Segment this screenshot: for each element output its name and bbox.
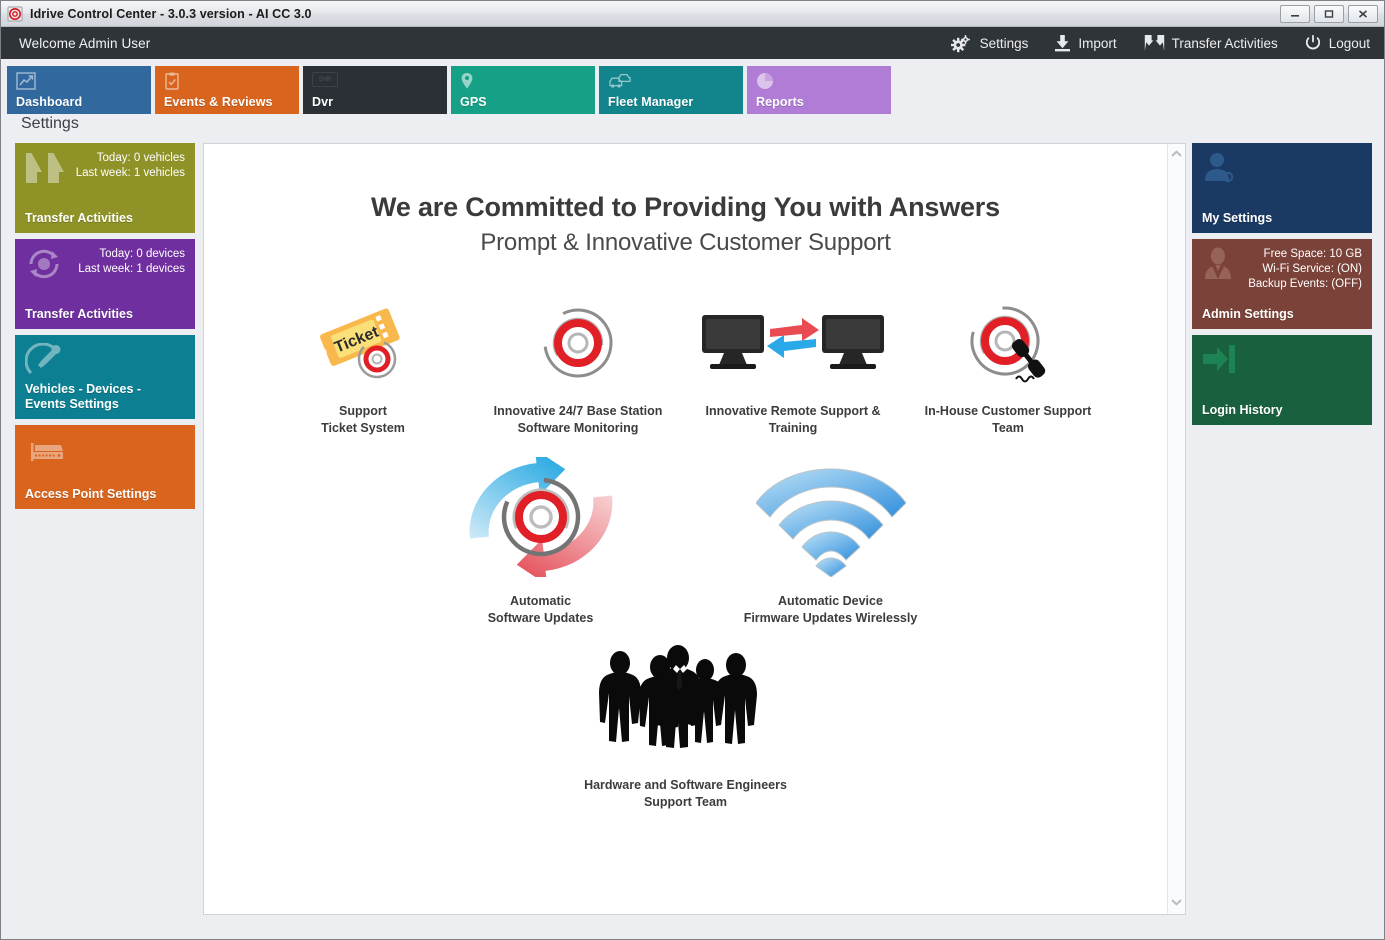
content-area: Today: 0 vehicles Last week: 1 vehicles … <box>1 143 1384 929</box>
caption-line: Innovative Remote Support & <box>705 403 880 420</box>
window-controls <box>1280 5 1380 23</box>
clipboard-check-icon <box>164 72 299 90</box>
menu-transfer-activities[interactable]: Transfer Activities <box>1143 34 1278 52</box>
download-icon <box>1054 34 1071 52</box>
page-title: Settings <box>1 111 1384 143</box>
wifi-signal-icon <box>756 481 906 577</box>
feature-caption: Support Ticket System <box>321 403 405 437</box>
feature-caption: Innovative Remote Support & Training <box>705 403 880 437</box>
caption-line: In-House Customer Support <box>925 403 1092 420</box>
card-stat-line: Last week: 1 devices <box>78 262 185 277</box>
scroll-down-icon[interactable] <box>1171 898 1182 908</box>
caption-line: Support <box>321 403 405 420</box>
card-login-history[interactable]: Login History <box>1192 335 1372 425</box>
caption-line: Software Updates <box>488 610 594 627</box>
caption-line: Innovative 24/7 Base Station <box>494 403 663 420</box>
card-title: Login History <box>1202 403 1362 418</box>
card-title: Access Point Settings <box>25 487 185 502</box>
card-admin-settings[interactable]: Free Space: 10 GB Wi-Fi Service: (ON) Ba… <box>1192 239 1372 329</box>
close-button[interactable] <box>1348 5 1378 23</box>
feature-automatic-firmware-updates: Automatic Device Firmware Updates Wirele… <box>686 481 976 627</box>
welcome-label: Welcome Admin User <box>19 36 150 51</box>
nav-tab-reports[interactable]: Reports <box>747 66 891 114</box>
feature-base-station-monitoring: Innovative 24/7 Base Station Software Mo… <box>471 291 686 437</box>
hero-subheadline: Prompt & Innovative Customer Support <box>204 229 1167 257</box>
card-stats: Free Space: 10 GB Wi-Fi Service: (ON) Ba… <box>1248 247 1362 292</box>
feature-caption: Automatic Device Firmware Updates Wirele… <box>744 593 918 627</box>
nav-tab-events-reviews[interactable]: Events & Reviews <box>155 66 299 114</box>
menu-transfer-label: Transfer Activities <box>1172 36 1278 51</box>
nav-tab-gps-label: GPS <box>460 95 487 109</box>
caption-line: Automatic <box>488 593 594 610</box>
card-stats: Today: 0 devices Last week: 1 devices <box>78 247 185 277</box>
card-stat-line: Today: 0 devices <box>78 247 185 262</box>
user-gear-icon <box>1202 151 1362 190</box>
scroll-up-icon[interactable] <box>1171 150 1182 160</box>
menu-settings[interactable]: Settings <box>951 34 1029 53</box>
caption-line: Software Monitoring <box>494 420 663 437</box>
hero-headline: We are Committed to Providing You with A… <box>204 192 1167 223</box>
nav-tab-events-reviews-label: Events & Reviews <box>164 95 273 109</box>
feature-caption: Automatic Software Updates <box>488 593 594 627</box>
status-bar <box>1 929 1384 939</box>
map-pin-icon <box>460 72 595 90</box>
login-door-icon <box>1202 343 1362 380</box>
wrench-icon <box>25 343 185 382</box>
card-my-settings[interactable]: My Settings <box>1192 143 1372 233</box>
feature-hardware-software-engineers: Hardware and Software Engineers Support … <box>541 665 831 811</box>
feature-caption: Hardware and Software Engineers Support … <box>584 777 787 811</box>
card-title: Admin Settings <box>1202 307 1362 322</box>
caption-line: Training <box>705 420 880 437</box>
menu-import[interactable]: Import <box>1054 34 1116 52</box>
feature-remote-support-training: Innovative Remote Support & Training <box>686 291 901 437</box>
transfer-arrows-icon <box>1143 34 1165 52</box>
card-access-point-settings[interactable]: Access Point Settings <box>15 425 195 509</box>
right-card-column: My Settings Free Space: 10 GB Wi-Fi Serv… <box>1192 143 1372 915</box>
support-ticket-icon: Ticket <box>313 291 413 387</box>
caption-line: Firmware Updates Wirelessly <box>744 610 918 627</box>
card-vehicles-devices-events-settings[interactable]: Vehicles - Devices - Events Settings <box>15 335 195 419</box>
feature-row-2: Automatic Software Updates <box>256 481 1116 849</box>
card-stat-line: Wi-Fi Service: (ON) <box>1248 262 1362 277</box>
caption-line: Team <box>925 420 1092 437</box>
card-title: Vehicles - Devices - Events Settings <box>25 382 185 412</box>
card-title: My Settings <box>1202 211 1362 226</box>
card-title: Transfer Activities <box>25 307 185 322</box>
pie-chart-icon <box>756 72 891 90</box>
card-stat-line: Today: 0 vehicles <box>76 151 185 166</box>
caption-line: Ticket System <box>321 420 405 437</box>
two-monitors-arrows-icon <box>698 291 888 387</box>
refresh-target-icon <box>452 481 630 577</box>
application-window: Idrive Control Center - 3.0.3 version - … <box>0 0 1385 940</box>
main-panel-content: We are Committed to Providing You with A… <box>204 144 1167 914</box>
target-icon <box>7 6 23 22</box>
nav-tab-dvr-label: Dvr <box>312 95 333 109</box>
card-transfer-activities-devices[interactable]: Today: 0 devices Last week: 1 devices Tr… <box>15 239 195 329</box>
menu-settings-label: Settings <box>980 36 1029 51</box>
power-icon <box>1304 34 1322 52</box>
card-title: Transfer Activities <box>25 211 185 226</box>
left-card-column: Today: 0 vehicles Last week: 1 vehicles … <box>15 143 195 915</box>
title-bar: Idrive Control Center - 3.0.3 version - … <box>1 1 1384 27</box>
dvr-box-label: DVR <box>312 72 338 87</box>
feature-in-house-support-team: In-House Customer Support Team <box>901 291 1116 437</box>
chart-up-icon <box>16 72 151 90</box>
feature-caption: Innovative 24/7 Base Station Software Mo… <box>494 403 663 437</box>
target-phone-icon <box>959 291 1057 387</box>
menu-import-label: Import <box>1078 36 1116 51</box>
minimize-button[interactable] <box>1280 5 1310 23</box>
nav-tab-dashboard-label: Dashboard <box>16 95 82 109</box>
feature-support-ticket-system: Ticket Support Ticket System <box>256 291 471 437</box>
window-title: Idrive Control Center - 3.0.3 version - … <box>30 7 312 21</box>
cars-icon <box>608 72 743 90</box>
maximize-button[interactable] <box>1314 5 1344 23</box>
nav-tab-dashboard[interactable]: Dashboard <box>7 66 151 114</box>
nav-tab-fleet-manager-label: Fleet Manager <box>608 95 693 109</box>
router-icon <box>25 433 185 470</box>
caption-line: Support Team <box>584 794 787 811</box>
caption-line: Hardware and Software Engineers <box>584 777 787 794</box>
nav-tab-reports-label: Reports <box>756 95 804 109</box>
top-toolbar: Welcome Admin User <box>1 27 1384 59</box>
card-stat-line: Backup Events: (OFF) <box>1248 277 1362 292</box>
top-menu: Settings Import <box>951 34 1370 53</box>
nav-tab-gps[interactable]: GPS <box>451 66 595 114</box>
menu-logout[interactable]: Logout <box>1304 34 1370 52</box>
card-stat-line: Last week: 1 vehicles <box>76 166 185 181</box>
gears-icon <box>951 34 973 53</box>
card-stats: Today: 0 vehicles Last week: 1 vehicles <box>76 151 185 181</box>
caption-line: Automatic Device <box>744 593 918 610</box>
menu-logout-label: Logout <box>1329 36 1370 51</box>
main-panel: We are Committed to Providing You with A… <box>203 143 1186 915</box>
card-stat-line: Free Space: 10 GB <box>1248 247 1362 262</box>
feature-automatic-software-updates: Automatic Software Updates <box>396 481 686 627</box>
nav-tab-fleet-manager[interactable]: Fleet Manager <box>599 66 743 114</box>
card-transfer-activities-vehicles[interactable]: Today: 0 vehicles Last week: 1 vehicles … <box>15 143 195 233</box>
nav-tab-dvr[interactable]: DVR Dvr <box>303 66 447 114</box>
target-rings-icon <box>532 291 624 387</box>
feature-caption: In-House Customer Support Team <box>925 403 1092 437</box>
dvr-box-icon: DVR <box>312 72 447 90</box>
vertical-scrollbar[interactable] <box>1167 144 1185 914</box>
team-silhouette-icon <box>591 665 781 761</box>
feature-row-1: Ticket Support Ticket System <box>256 291 1116 475</box>
main-navigation: Dashboard Events & Reviews DVR Dvr <box>1 59 1384 111</box>
